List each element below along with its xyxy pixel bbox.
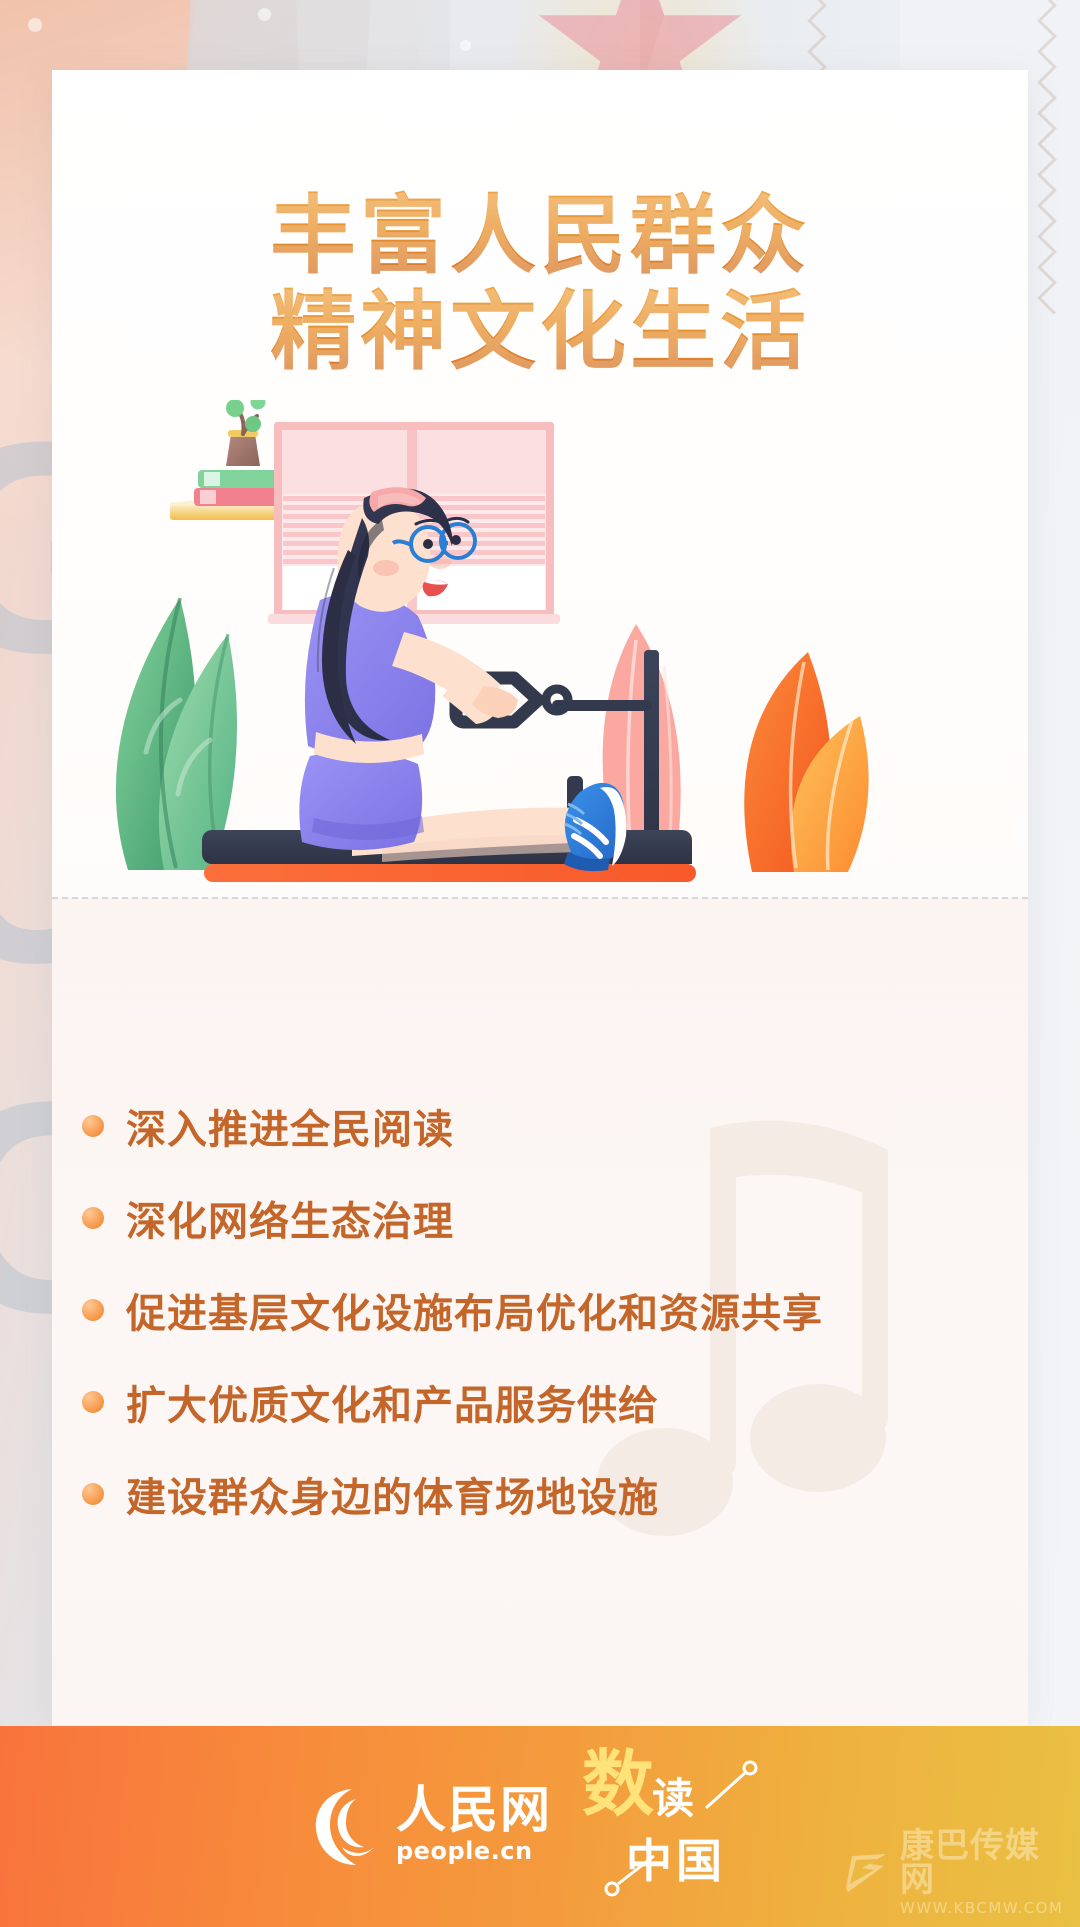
peoplecn-logo[interactable]: 人民网 people.cn — [312, 1785, 552, 1869]
green-leaf-decoration — [116, 598, 237, 870]
shudu-du-char: 读 — [652, 1778, 694, 1820]
list-item-label: 扩大优质文化和产品服务供给 — [126, 1373, 659, 1431]
list-item-label: 促进基层文化设施布局优化和资源共享 — [126, 1281, 823, 1339]
watermark-text: 康巴传媒网 WWW.KBCMW.COM — [900, 1829, 1063, 1920]
bullet-dot-icon — [82, 1115, 104, 1137]
title-line-1: 丰富人民群众 — [52, 188, 1028, 284]
bullet-dot-icon — [82, 1207, 104, 1229]
peoplecn-name-en: people.cn — [396, 1835, 533, 1869]
background-zigzag — [1034, 0, 1060, 320]
page-title: 丰富人民群众 精神文化生活 — [52, 188, 1028, 381]
watermark-url: WWW.KBCMW.COM — [900, 1897, 1063, 1920]
title-line-2: 精神文化生活 — [52, 284, 1028, 380]
list-item-label: 深入推进全民阅读 — [126, 1097, 454, 1155]
background-dot — [258, 8, 271, 21]
list-item: 促进基层文化设施布局优化和资源共享 — [52, 1264, 1028, 1356]
footer-bar: 人民网 people.cn 数 读 中国 康巴传媒网 WWW.KBCMW.COM — [0, 1726, 1080, 1927]
peoplecn-globe-icon — [312, 1785, 386, 1869]
list-item: 深化网络生态治理 — [52, 1172, 1028, 1264]
shudu-shu-char: 数 — [582, 1748, 654, 1820]
list-item-label: 建设群众身边的体育场地设施 — [126, 1465, 659, 1523]
peoplecn-name-cn: 人民网 — [396, 1785, 552, 1835]
shudu-zhongguo-chars: 中国 — [626, 1838, 726, 1884]
bullet-dot-icon — [82, 1483, 104, 1505]
list-item: 扩大优质文化和产品服务供给 — [52, 1356, 1028, 1448]
list-item: 深入推进全民阅读 — [52, 1080, 1028, 1172]
bullet-dot-icon — [82, 1391, 104, 1413]
illustration-woman-on-rowing-machine — [52, 400, 1028, 960]
background-dot — [28, 18, 42, 32]
bullet-dot-icon — [82, 1299, 104, 1321]
bullet-list: 深入推进全民阅读 深化网络生态治理 促进基层文化设施布局优化和资源共享 扩大优质… — [52, 1080, 1028, 1540]
list-item: 建设群众身边的体育场地设施 — [52, 1448, 1028, 1540]
shudu-zhongguo-logo[interactable]: 数 读 中国 — [578, 1752, 768, 1902]
watermark-name: 康巴传媒网 — [900, 1829, 1063, 1897]
poster-card: 丰富人民群众 精神文化生活 — [52, 70, 1028, 1726]
peoplecn-wordmark: 人民网 people.cn — [396, 1785, 552, 1869]
kbcmw-logo-icon — [840, 1848, 892, 1900]
watermark: 康巴传媒网 WWW.KBCMW.COM — [840, 1835, 1060, 1913]
orange-leaf-decoration — [744, 652, 868, 872]
list-item-label: 深化网络生态治理 — [126, 1189, 454, 1247]
